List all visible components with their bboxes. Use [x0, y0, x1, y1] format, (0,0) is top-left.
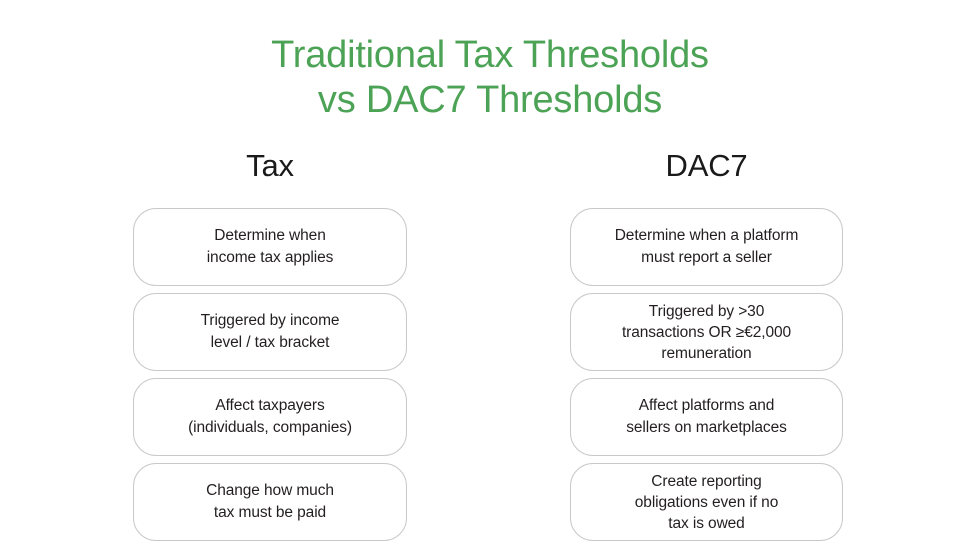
card-dac7-1-text: Determine when a platform must report a …: [615, 225, 799, 269]
card-dac7-2[interactable]: Triggered by >30 transactions OR ≥€2,000…: [570, 293, 843, 371]
comparison-slide: Traditional Tax Thresholds vs DAC7 Thres…: [0, 0, 980, 551]
card-tax-2-text: Triggered by income level / tax bracket: [201, 310, 340, 354]
card-dac7-4-text: Create reporting obligations even if no …: [635, 471, 778, 534]
card-list-dac7: Determine when a platform must report a …: [570, 208, 843, 541]
card-dac7-2-text: Triggered by >30 transactions OR ≥€2,000…: [622, 301, 791, 364]
card-dac7-3[interactable]: Affect platforms and sellers on marketpl…: [570, 378, 843, 456]
card-dac7-4[interactable]: Create reporting obligations even if no …: [570, 463, 843, 541]
column-header-dac7: DAC7: [570, 148, 843, 186]
column-header-tax: Tax: [133, 148, 407, 186]
card-tax-3[interactable]: Affect taxpayers (individuals, companies…: [133, 378, 407, 456]
card-tax-1-text: Determine when income tax applies: [207, 225, 334, 269]
card-list-tax: Determine when income tax applies Trigge…: [133, 208, 407, 541]
card-tax-2[interactable]: Triggered by income level / tax bracket: [133, 293, 407, 371]
card-tax-1[interactable]: Determine when income tax applies: [133, 208, 407, 286]
card-tax-4[interactable]: Change how much tax must be paid: [133, 463, 407, 541]
card-dac7-3-text: Affect platforms and sellers on marketpl…: [626, 395, 787, 439]
column-tax: Tax Determine when income tax applies Tr…: [133, 148, 407, 541]
card-tax-4-text: Change how much tax must be paid: [206, 480, 334, 524]
slide-title: Traditional Tax Thresholds vs DAC7 Thres…: [0, 33, 980, 123]
card-tax-3-text: Affect taxpayers (individuals, companies…: [188, 395, 352, 439]
column-dac7: DAC7 Determine when a platform must repo…: [570, 148, 843, 541]
card-dac7-1[interactable]: Determine when a platform must report a …: [570, 208, 843, 286]
